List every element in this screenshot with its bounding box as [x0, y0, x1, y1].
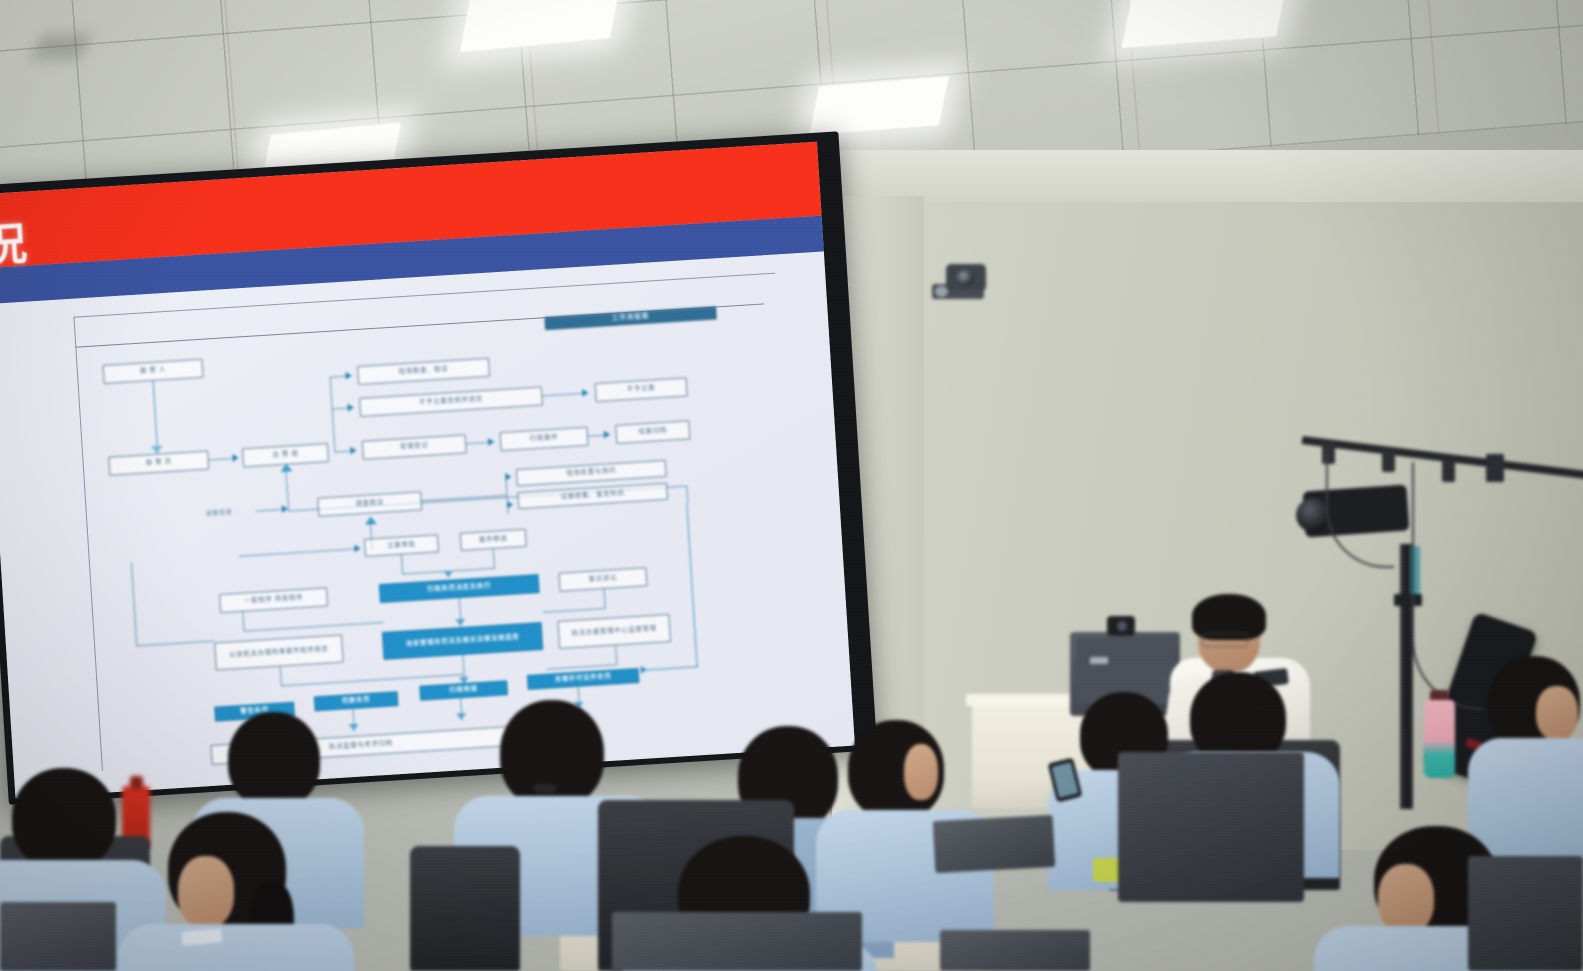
desktop-monitor [1468, 856, 1583, 971]
flowchart-node: 不予立案 [595, 377, 688, 402]
flowchart-node: 一般程序 简易程序 [219, 587, 328, 613]
wall-soffit [760, 150, 1583, 202]
flowchart-node: 行政拘留 [419, 680, 508, 700]
chair [410, 846, 520, 971]
screenshot-root: 情况 工作流程图 报 警 人 接 警 员 出 警 组 [0, 0, 1583, 971]
flowchart-node: 结案归档 [615, 420, 690, 444]
camera-knob [935, 286, 948, 297]
person-shirt [118, 924, 354, 971]
camera-lens-icon [1296, 498, 1330, 532]
glasses-icon [1202, 633, 1248, 647]
laptop [933, 815, 1056, 873]
laptop [940, 930, 1090, 971]
desktop-monitor [1118, 752, 1304, 902]
person-face [178, 856, 234, 928]
flowchart: 工作流程图 报 警 人 接 警 员 出 警 组 现场勘查、取证 [73, 272, 813, 773]
person-face [1536, 686, 1578, 740]
monitor-logo [1090, 657, 1108, 664]
camera-shadow [31, 34, 92, 60]
flowchart-node: 罚款处罚 [314, 691, 399, 711]
laptop [0, 902, 116, 971]
flowchart-node: 证据收集、鉴定检验 [517, 483, 668, 509]
webcam-lens-icon [1117, 621, 1127, 631]
flowchart-node: 受理登记 [362, 434, 467, 459]
person-face [904, 744, 938, 800]
flowchart-node: 行政案件 [500, 427, 589, 451]
person-face [1378, 864, 1434, 934]
flowchart-title-box: 工作流程图 [544, 306, 716, 330]
audience-person [128, 812, 338, 971]
water-bottle [1424, 700, 1455, 778]
boom-clip [1486, 454, 1504, 482]
hair-tie [534, 784, 556, 793]
ptz-camera-icon [932, 264, 990, 306]
camera-lens-icon [956, 270, 974, 286]
flowchart-node: 立案审批 [364, 534, 439, 557]
flowchart-node: 现场处置与询问 [516, 460, 667, 486]
flowchart-edge-label: 接警受理 [206, 507, 233, 518]
person-head [228, 712, 320, 808]
flowchart-node: 不予立案告知并送达 [359, 386, 543, 416]
flowchart-node: 现场勘查、取证 [357, 358, 490, 385]
flowchart-node: 吊销许可证件处罚 [527, 668, 640, 690]
display-screen: 情况 工作流程图 报 警 人 接 警 员 出 警 组 [0, 142, 855, 799]
led-display: 情况 工作流程图 报 警 人 接 警 员 出 警 组 [0, 131, 877, 804]
flowchart-node: 公安机关办理刑事案件程序规定 [214, 635, 344, 671]
flowchart-node: 调查取证 [317, 491, 422, 516]
audience-person [1478, 656, 1583, 846]
person-head [12, 768, 116, 870]
slide-header-title: 情况 [0, 207, 32, 277]
flowchart-node: 案件移送 [460, 529, 527, 551]
flowchart-node: 执法办案管理中心监督管理 [557, 614, 671, 649]
slide-body: 工作流程图 报 警 人 接 警 员 出 警 组 现场勘查、取证 [0, 252, 855, 799]
flowchart-node: 接 警 员 [108, 451, 209, 476]
laptop [612, 912, 862, 971]
hanging-cable [1412, 462, 1482, 710]
hanging-cable [1326, 448, 1394, 568]
